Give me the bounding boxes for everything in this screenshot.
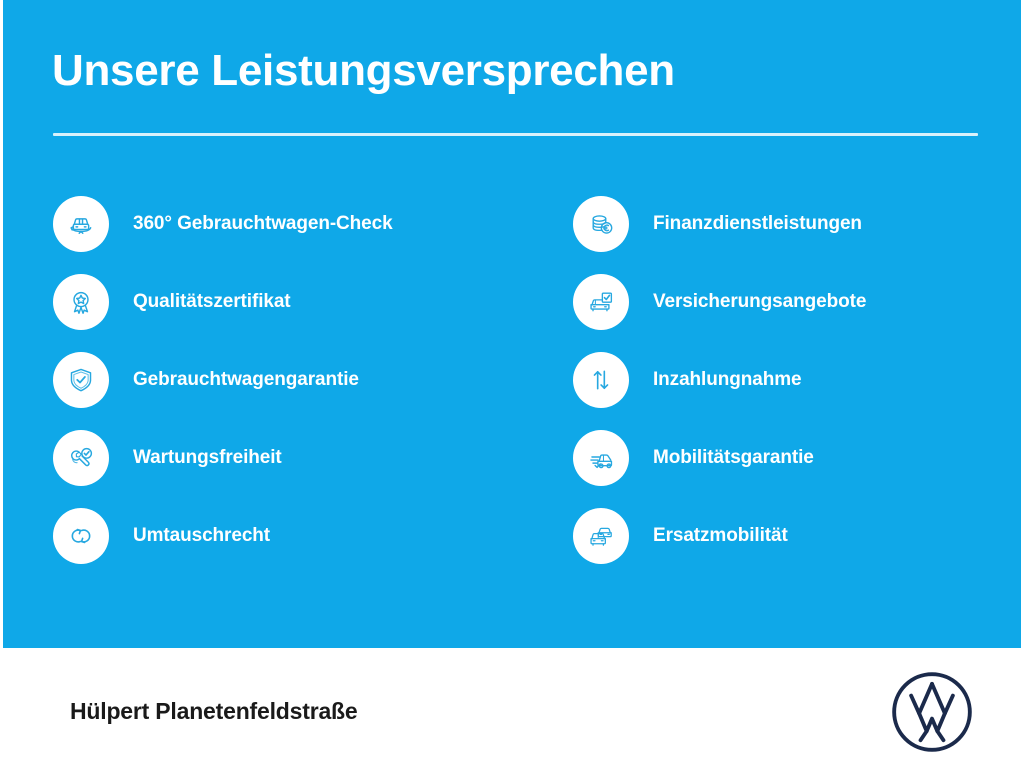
two-cars-icon <box>573 508 629 564</box>
up-down-arrows-icon <box>573 352 629 408</box>
promise-item-versicherungsangebote: Versicherungsangebote <box>573 274 1024 330</box>
promise-item-gebrauchtwagengarantie: Gebrauchtwagengarantie <box>53 352 523 408</box>
promise-label: Wartungsfreiheit <box>133 447 282 469</box>
promise-label: Mobilitätsgarantie <box>653 447 814 469</box>
car-360-check-icon <box>53 196 109 252</box>
promise-label: Inzahlungnahme <box>653 369 802 391</box>
promise-item-inzahlungnahme: Inzahlungnahme <box>573 352 1024 408</box>
promise-column-right: Finanzdienstleistungen <box>573 196 1024 586</box>
promise-label: Umtauschrecht <box>133 525 270 547</box>
dealer-name: Hülpert Planetenfeldstraße <box>70 698 357 725</box>
exchange-arrows-icon <box>53 508 109 564</box>
promise-item-finanzdienstleistungen: Finanzdienstleistungen <box>573 196 1024 252</box>
promise-item-wartungsfreiheit: Wartungsfreiheit <box>53 430 523 486</box>
promise-item-gebrauchtwagen-check: 360° Gebrauchtwagen-Check <box>53 196 523 252</box>
award-rosette-icon <box>53 274 109 330</box>
coins-euro-icon <box>573 196 629 252</box>
promise-item-umtauschrecht: Umtauschrecht <box>53 508 523 564</box>
promise-label: Ersatzmobilität <box>653 525 788 547</box>
page-title: Unsere Leistungsversprechen <box>52 48 675 94</box>
promise-label: Finanzdienstleistungen <box>653 213 862 235</box>
promise-column-left: 360° Gebrauchtwagen-Check Qualitätszerti… <box>53 196 523 586</box>
promise-graphic: Unsere Leistungsversprechen <box>0 0 1024 768</box>
promise-item-mobilitaetsgarantie: Mobilitätsgarantie <box>573 430 1024 486</box>
hero-panel: Unsere Leistungsversprechen <box>3 0 1021 648</box>
promise-label: Qualitätszertifikat <box>133 291 291 313</box>
promise-label: Versicherungsangebote <box>653 291 866 313</box>
car-motion-icon <box>573 430 629 486</box>
promise-label: 360° Gebrauchtwagen-Check <box>133 213 393 235</box>
footer-bar: Hülpert Planetenfeldstraße <box>0 648 1024 768</box>
volkswagen-logo <box>888 668 976 756</box>
promise-item-ersatzmobilitaet: Ersatzmobilität <box>573 508 1024 564</box>
promise-label: Gebrauchtwagengarantie <box>133 369 359 391</box>
title-divider <box>53 133 978 136</box>
promise-item-qualitaetszertifikat: Qualitätszertifikat <box>53 274 523 330</box>
wrench-check-icon <box>53 430 109 486</box>
car-checklist-icon <box>573 274 629 330</box>
shield-check-icon <box>53 352 109 408</box>
promise-grid: 360° Gebrauchtwagen-Check Qualitätszerti… <box>3 196 1021 596</box>
